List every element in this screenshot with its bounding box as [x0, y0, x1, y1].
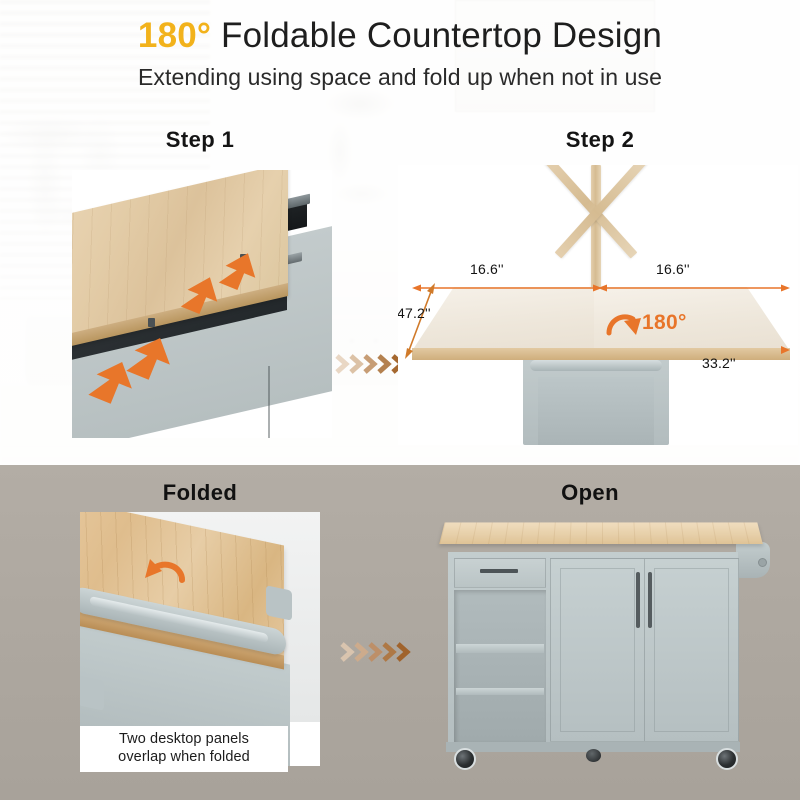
folded-label: Folded — [110, 480, 290, 506]
caster-wheel — [454, 748, 476, 770]
door-handle-left[interactable] — [636, 572, 640, 628]
wood-grain-texture — [439, 522, 763, 544]
title-rest: Foldable Countertop Design — [221, 16, 662, 55]
folded-caption: Two desktop panels overlap when folded — [80, 726, 288, 772]
shelf-lower — [456, 688, 544, 695]
page-title: 180° Foldable Countertop Design — [0, 16, 800, 56]
cabinet-door-left[interactable] — [550, 558, 645, 742]
dimension-label-width: 33.2'' — [702, 355, 736, 371]
shelf-upper — [456, 644, 544, 653]
left-panel-edge — [412, 348, 602, 360]
infographic-root: 180° Foldable Countertop Design Extendin… — [0, 0, 800, 800]
drawer-handle — [480, 569, 518, 573]
direction-arrow-icon — [88, 360, 152, 414]
cart-towel-rail — [530, 360, 662, 371]
page-subtitle: Extending using space and fold up when n… — [0, 64, 800, 91]
hinge-bracket-icon — [148, 318, 155, 327]
cart-drawer — [454, 558, 546, 588]
towel-bar-bracket — [80, 675, 104, 711]
door-handle-right[interactable] — [648, 572, 652, 628]
dimension-label-left-span: 16.6'' — [470, 261, 504, 277]
dimension-line-depth — [400, 283, 440, 366]
angle-badge: 180° — [642, 311, 687, 335]
open-cart-illustration — [430, 506, 780, 796]
rotate-arrow-icon — [142, 550, 192, 595]
bracket-hole-icon — [758, 558, 767, 567]
direction-arrow-icon — [180, 276, 236, 322]
dimension-line-left-span — [412, 281, 602, 299]
dimension-line-right-span — [598, 281, 790, 299]
door-panel-inset — [654, 568, 729, 732]
cabinet-door-seam — [268, 366, 270, 438]
step-1-label: Step 1 — [110, 127, 290, 153]
folded-caption-text: Two desktop panels overlap when folded — [118, 731, 250, 766]
dimension-label-depth: 47.2'' — [398, 305, 431, 321]
caster-wheel — [716, 748, 738, 770]
top-section: 180° Foldable Countertop Design Extendin… — [0, 0, 800, 465]
open-countertop — [439, 522, 763, 544]
caster-wheel-rear — [586, 749, 601, 762]
caption-line-1: Two desktop panels — [119, 731, 249, 747]
door-panel-inset — [560, 568, 635, 732]
open-label: Open — [500, 480, 680, 506]
towel-bar-bracket — [266, 585, 292, 621]
rotation-arrow-icon — [603, 303, 645, 352]
open-shelf-bay — [454, 590, 546, 742]
caption-line-2: overlap when folded — [118, 749, 250, 765]
title-angle-highlight: 180° — [138, 16, 211, 55]
cabinet-door-right[interactable] — [644, 558, 739, 742]
cart-lower-body — [538, 377, 654, 445]
step-1-photo — [72, 170, 332, 438]
step-2-label: Step 2 — [510, 127, 690, 153]
dimension-label-right-span: 16.6'' — [656, 261, 690, 277]
chevrons-right-icon — [340, 640, 415, 664]
step-2-diagram: 16.6'' 16.6'' 47.2'' — [398, 165, 798, 445]
